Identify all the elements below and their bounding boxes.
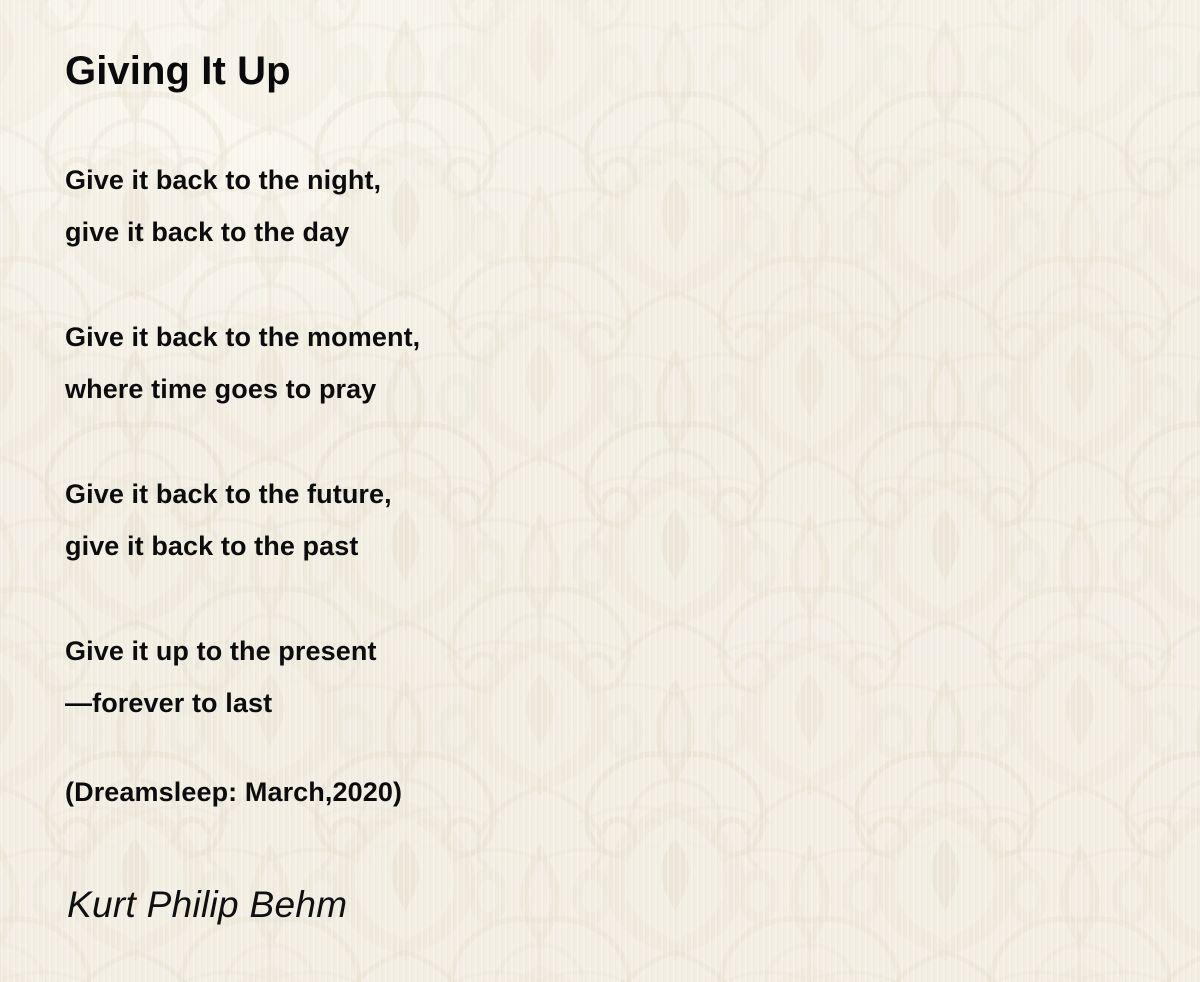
poem-author-signature: Kurt Philip Behm (67, 884, 347, 926)
poem-body: Give it back to the night, give it back … (65, 154, 765, 729)
poem-line: Give it back to the moment, (65, 311, 765, 363)
poem-source-note: (Dreamsleep: March,2020) (65, 777, 402, 808)
poem-image-card: Giving It Up Give it back to the night, … (0, 0, 1200, 982)
poem-line: give it back to the day (65, 206, 765, 258)
poem-line: Give it back to the future, (65, 468, 765, 520)
poem-line: give it back to the past (65, 520, 765, 572)
poem-text-column: Giving It Up Give it back to the night, … (0, 0, 1200, 982)
poem-line: —forever to last (65, 677, 765, 729)
stanza: Give it back to the night, give it back … (65, 154, 765, 258)
poem-line: Give it back to the night, (65, 154, 765, 206)
stanza: Give it back to the moment, where time g… (65, 311, 765, 415)
poem-title: Giving It Up (65, 49, 291, 93)
stanza: Give it back to the future, give it back… (65, 468, 765, 572)
stanza: Give it up to the present —forever to la… (65, 625, 765, 729)
poem-line: where time goes to pray (65, 363, 765, 415)
poem-line: Give it up to the present (65, 625, 765, 677)
